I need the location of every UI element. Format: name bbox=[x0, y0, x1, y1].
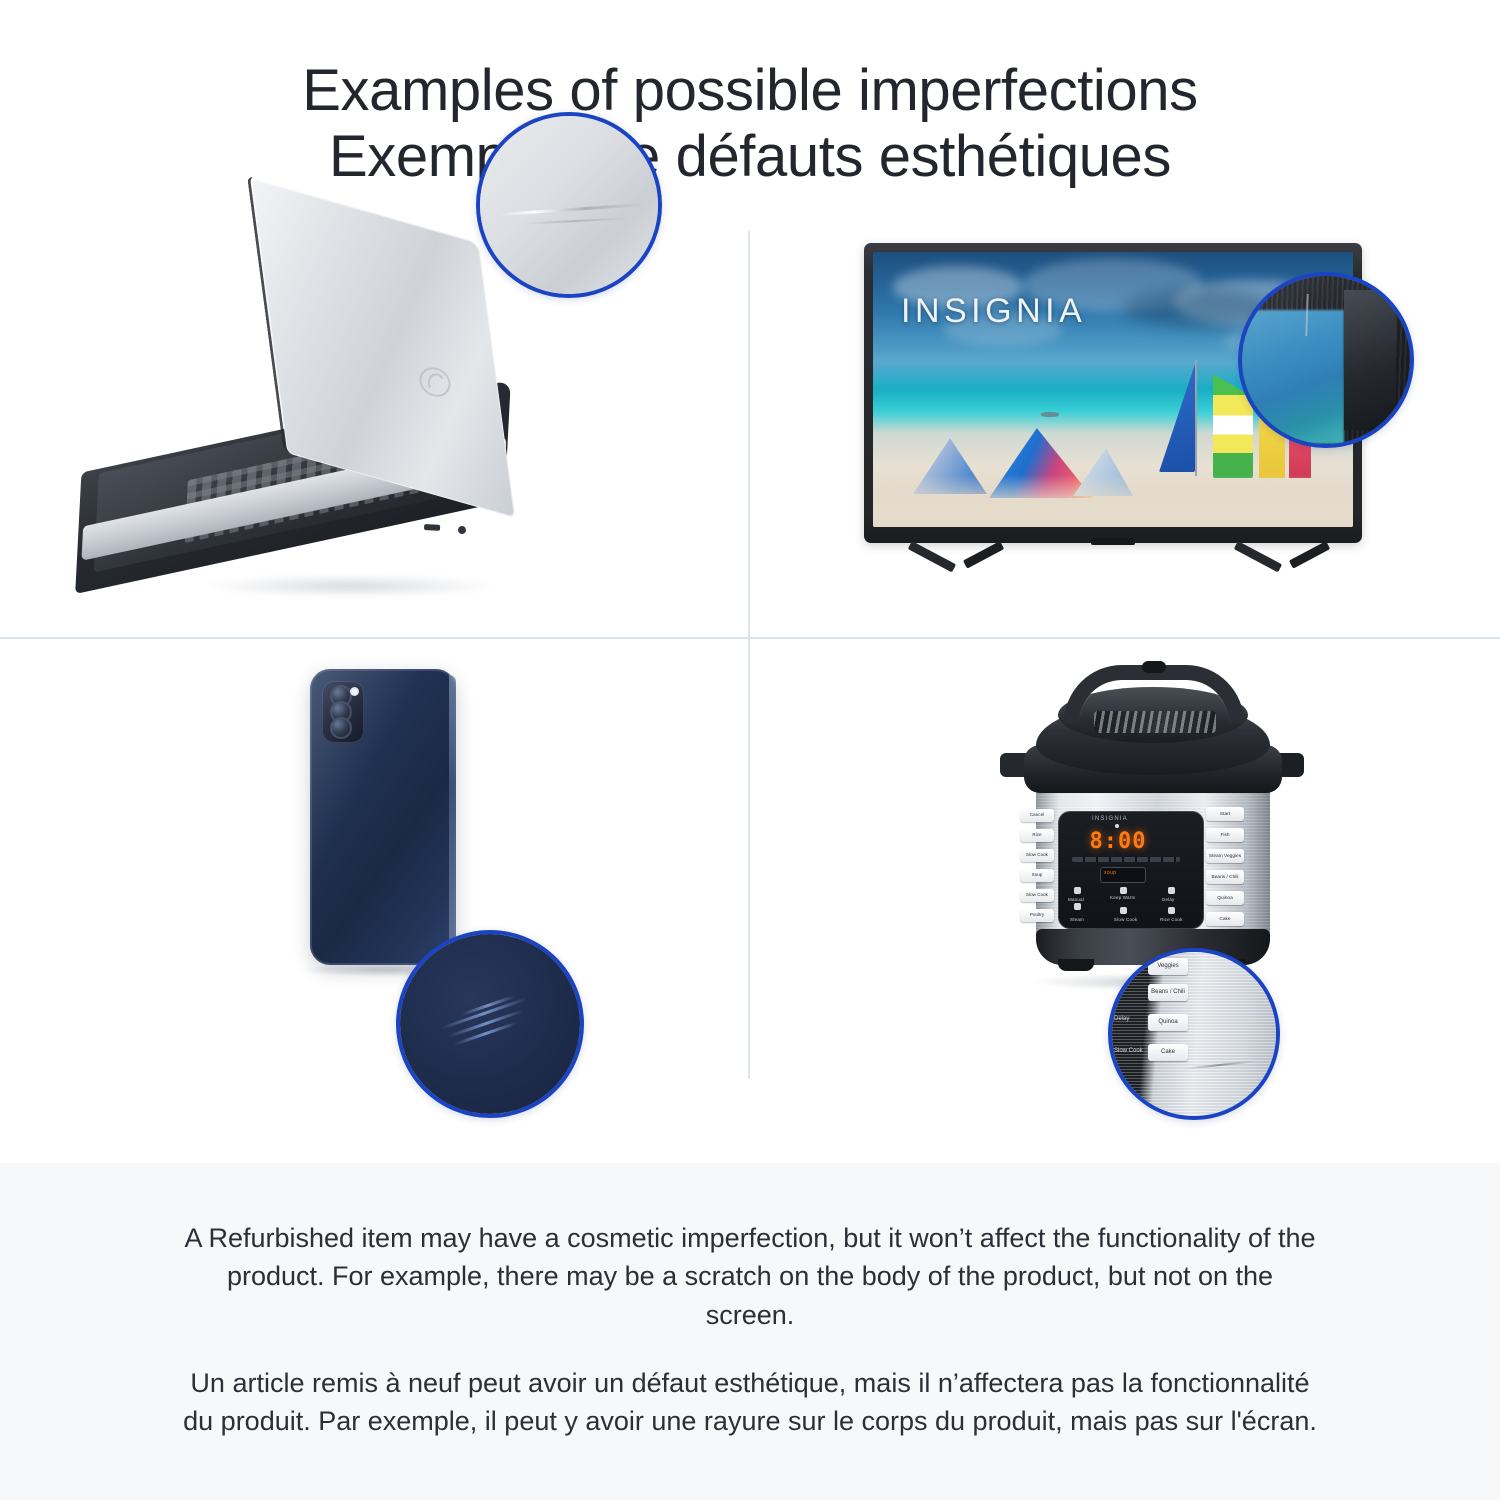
tv-leg-left bbox=[912, 541, 990, 575]
sailboat-blue-sail bbox=[1159, 364, 1195, 472]
cooker-button[interactable]: Quinoa bbox=[1206, 891, 1244, 905]
magnifier-content-phone bbox=[400, 934, 580, 1114]
grid-divider-vertical bbox=[748, 231, 750, 1079]
cooker-button[interactable]: Slow Cook bbox=[1020, 849, 1054, 862]
cooker-button-magnified[interactable]: Cake bbox=[1148, 1044, 1188, 1061]
page-title-en: Examples of possible imperfections bbox=[302, 58, 1197, 123]
scratch-mark bbox=[524, 217, 628, 224]
cooker-panel-key[interactable] bbox=[1168, 907, 1175, 914]
cooker-button[interactable]: Rice bbox=[1020, 829, 1054, 842]
phone-body bbox=[310, 669, 456, 965]
cooker-button[interactable]: Soup bbox=[1020, 869, 1054, 882]
cooker-key-label: Rice Cook bbox=[1160, 917, 1183, 922]
cooker-key-label: Manual bbox=[1068, 897, 1084, 902]
tv-leg-right bbox=[1238, 541, 1316, 575]
laptop-ports bbox=[424, 523, 500, 537]
cooker-panel-key[interactable] bbox=[1074, 903, 1081, 910]
sailboat-mast bbox=[1195, 360, 1197, 476]
brushed-steel-texture bbox=[1112, 952, 1276, 1116]
magnifier-callout-tv bbox=[1238, 272, 1414, 448]
cooker-button[interactable]: Start bbox=[1206, 807, 1244, 821]
beach-sand bbox=[873, 475, 1353, 527]
page-title-fr: Exemples de défauts esthétiques bbox=[0, 124, 1500, 190]
cooker-button[interactable]: Cake bbox=[1206, 912, 1244, 926]
magnifier-content-cooker: Delay Slow Cook Veggies Beans / Chili Qu… bbox=[1112, 952, 1276, 1116]
tv-center-badge bbox=[1091, 538, 1135, 545]
magnifier-callout-phone bbox=[396, 930, 584, 1118]
panel-phone bbox=[0, 641, 748, 1079]
tv-screen-closeup bbox=[1238, 310, 1344, 444]
cooker-mode-readout: soup bbox=[1100, 867, 1146, 883]
scratch-mark bbox=[498, 203, 644, 216]
cooker-lid-handle bbox=[1064, 665, 1244, 723]
cooker-button[interactable]: Beans / Chili bbox=[1206, 870, 1244, 884]
cooker-key-label: Keep Warm bbox=[1110, 895, 1135, 900]
cooker-button[interactable]: Steam Veggies bbox=[1206, 849, 1244, 863]
cooker-panel-key[interactable] bbox=[1120, 907, 1127, 914]
cooker-side-label: Slow Cook bbox=[1114, 1048, 1143, 1054]
cooker-button-magnified[interactable]: Quinoa bbox=[1148, 1014, 1188, 1031]
distant-boat bbox=[1041, 412, 1059, 417]
refurbished-imperfections-infographic: Examples of possible imperfections Exemp… bbox=[0, 0, 1500, 1500]
cooker-button[interactable]: Poultry bbox=[1020, 909, 1054, 922]
cooker-key-label: Delay bbox=[1162, 897, 1175, 902]
cooker-button[interactable]: Slow Cook bbox=[1020, 889, 1054, 902]
magnifier-content-laptop bbox=[480, 116, 658, 294]
cooker-control-panel[interactable]: INSIGNIA 8:00 soup Manual bbox=[1058, 811, 1204, 929]
cooker-panel-key[interactable] bbox=[1074, 887, 1081, 894]
grid-divider-horizontal bbox=[0, 637, 1500, 639]
page-header: Examples of possible imperfections Exemp… bbox=[0, 0, 1500, 189]
cooker-panel-key[interactable] bbox=[1120, 887, 1127, 894]
phone-illustration bbox=[0, 641, 748, 1079]
cooker-steam-valve-icon bbox=[1142, 661, 1166, 673]
caption-paragraph-en: A Refurbished item may have a cosmetic i… bbox=[180, 1219, 1320, 1334]
magnifier-content-tv bbox=[1242, 276, 1410, 444]
cooker-buttons-right: Start Fish Steam Veggies Beans / Chili Q… bbox=[1206, 807, 1246, 933]
cooker-led-display: 8:00 bbox=[1088, 829, 1148, 853]
cooker-button[interactable]: Cancel bbox=[1020, 809, 1054, 822]
cooker-indicator-dot bbox=[1115, 824, 1119, 828]
cooker-side-label: Delay bbox=[1114, 1016, 1129, 1022]
cooker-button-magnified[interactable]: Beans / Chili bbox=[1148, 984, 1188, 1001]
cooker-progress-bar bbox=[1072, 857, 1180, 862]
cooker-button-magnified[interactable]: Veggies bbox=[1148, 958, 1188, 975]
cooker-button[interactable]: Fish bbox=[1206, 828, 1244, 842]
laptop-shadow bbox=[200, 575, 500, 597]
magnifier-callout-laptop bbox=[476, 112, 662, 298]
cooker-mode-text: soup bbox=[1104, 870, 1116, 876]
cooker-buttons-left: Cancel Rice Slow Cook Soup Slow Cook Pou… bbox=[1020, 809, 1056, 931]
tv-screen-logo: INSIGNIA bbox=[901, 292, 1086, 331]
magnifier-callout-cooker: Delay Slow Cook Veggies Beans / Chili Qu… bbox=[1108, 948, 1280, 1120]
cooker-key-label: Slow Cook bbox=[1114, 917, 1137, 922]
caption-paragraph-fr: Un article remis à neuf peut avoir un dé… bbox=[180, 1364, 1320, 1441]
cooker-foot bbox=[1058, 959, 1094, 971]
cooker-panel-key[interactable] bbox=[1168, 887, 1175, 894]
cooker-key-label: Steam bbox=[1070, 917, 1084, 922]
page-title: Examples of possible imperfections Exemp… bbox=[0, 58, 1500, 189]
footer-caption: A Refurbished item may have a cosmetic i… bbox=[0, 1163, 1500, 1500]
phone-glass-highlight bbox=[310, 669, 456, 965]
tv-corner-closeup bbox=[1344, 290, 1396, 430]
cooker-brand-label: INSIGNIA bbox=[1092, 816, 1128, 822]
